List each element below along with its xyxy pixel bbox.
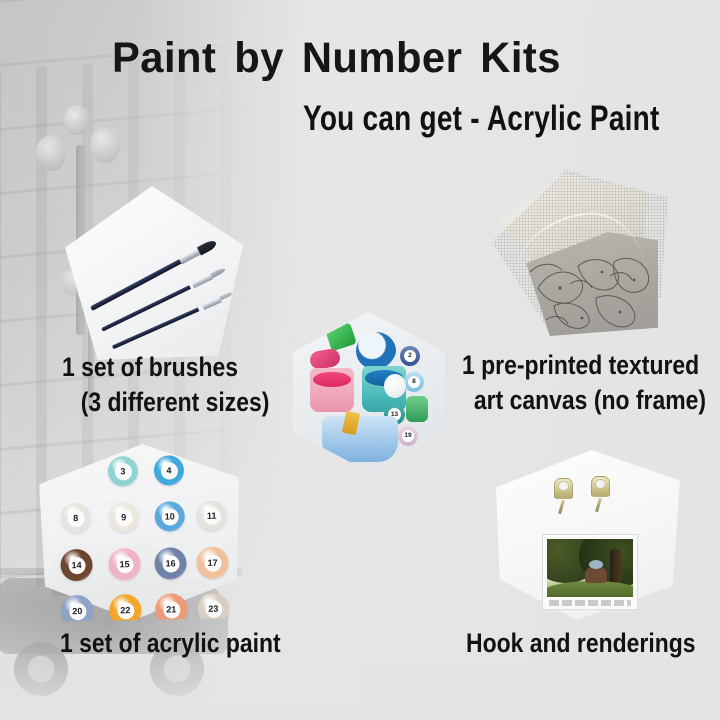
figure-silhouette — [585, 567, 607, 583]
hook-caption: Hook and renderings — [466, 626, 696, 661]
rendering-card — [542, 534, 638, 610]
page-subtitle: You can get - Acrylic Paint — [303, 99, 660, 139]
canvas-caption-line1: 1 pre-printed textured — [462, 350, 699, 380]
wall-hook-icon — [591, 476, 608, 502]
acrylic-caption-line1: 1 set of acrylic paint — [60, 628, 281, 658]
acrylic-pot-number: 20 — [69, 602, 86, 619]
paint-lid-green — [325, 323, 357, 352]
paint-pot-pink — [310, 368, 354, 412]
acrylic-caption: 1 set of acrylic paint — [60, 626, 281, 661]
pot-number: 2 — [404, 350, 416, 362]
acrylic-pot-number: 9 — [115, 509, 132, 526]
acrylic-pot-number: 17 — [204, 554, 221, 571]
rendering-artwork — [547, 539, 633, 597]
hook-hole — [595, 479, 606, 489]
hill — [547, 581, 633, 597]
acrylic-pot-21: 21 — [155, 593, 188, 622]
acrylic-pot-number: 15 — [116, 556, 133, 573]
hook-renderings-image — [496, 450, 680, 620]
brushes-image — [63, 183, 247, 361]
paint-by-number-poster: Paint by Number Kits You can get - Acryl… — [0, 0, 720, 720]
acrylic-pot-20: 20 — [61, 595, 94, 622]
acrylic-pot-number: 16 — [162, 555, 179, 572]
acrylic-pot-number: 4 — [160, 462, 177, 479]
paint-surface — [313, 372, 352, 387]
acrylic-pot-number: 8 — [67, 509, 84, 526]
brushes-caption-line1: 1 set of brushes — [62, 352, 238, 382]
paint-pot-green — [406, 396, 428, 422]
paint-tray-blue — [322, 416, 398, 462]
acrylic-pot-number: 10 — [161, 508, 178, 525]
acrylic-pot-number: 22 — [117, 602, 134, 619]
canvas-caption-line2: art canvas (no frame) — [474, 383, 706, 418]
acrylic-paint-set-image: 348910111415161720222123 — [38, 442, 241, 621]
brushes-caption-line2: (3 different sizes) — [81, 385, 270, 420]
pot-number: 8 — [408, 376, 420, 388]
paint-lid-blue — [356, 332, 396, 370]
paint-pot-numbered: 2 — [400, 346, 420, 366]
pot-number: 19 — [402, 430, 414, 442]
acrylic-pot-number: 23 — [205, 600, 222, 617]
lamp-globe — [90, 127, 120, 163]
pots-tile-contents: 2 8 13 19 — [288, 312, 450, 472]
lamp-globe — [64, 105, 90, 135]
acrylic-pot-grid: 348910111415161720222123 — [38, 442, 238, 445]
paint-pot-numbered: 19 — [398, 426, 418, 446]
canvas-caption: 1 pre-printed textured art canvas (no fr… — [462, 348, 706, 418]
canvas-image — [492, 170, 668, 342]
acrylic-pot-22: 22 — [109, 594, 142, 622]
hook-caption-line1: Hook and renderings — [466, 628, 696, 658]
hook-hole — [558, 481, 569, 491]
brushes-caption: 1 set of brushes (3 different sizes) — [62, 350, 269, 420]
page-title: Paint by Number Kits — [112, 34, 561, 83]
rendering-caption-strip — [549, 600, 631, 606]
acrylic-pot-number: 11 — [203, 507, 220, 524]
wall-hook-icon — [554, 478, 571, 504]
acrylic-pot-number: 14 — [68, 556, 85, 573]
acrylic-pot-number: 3 — [114, 463, 131, 480]
acrylic-pot-23: 23 — [197, 592, 230, 621]
lamp-globe — [36, 135, 66, 171]
paint-pots-image: 2 8 13 19 — [288, 312, 450, 472]
acrylic-pot-number: 21 — [163, 601, 180, 618]
paint-pot-numbered: 8 — [404, 372, 424, 392]
paint-pot-white — [384, 374, 406, 398]
